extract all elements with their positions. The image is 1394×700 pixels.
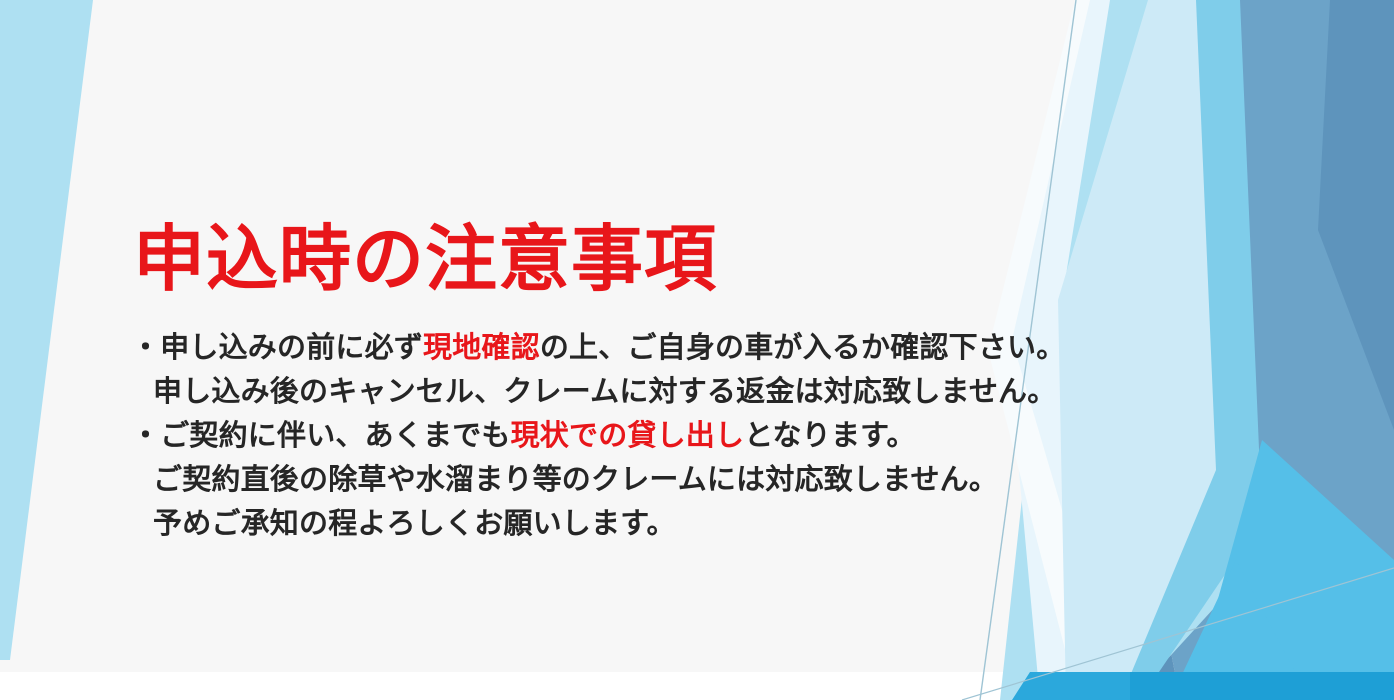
body-text-block: ・申し込みの前に必ず現地確認の上、ご自身の車が入るか確認下さい。申し込み後のキャ… [131, 326, 1131, 546]
body-line: 予めご承知の程よろしくお願いします。 [131, 502, 1131, 546]
body-line: 申し込み後のキャンセル、クレームに対する返金は対応致しません。 [131, 370, 1131, 414]
body-text: 申し込み後のキャンセル、クレームに対する返金は対応致しません。 [153, 376, 1056, 408]
body-line: ・申し込みの前に必ず現地確認の上、ご自身の車が入るか確認下さい。 [131, 326, 1131, 370]
body-text: となります。 [744, 420, 915, 452]
body-line: ご契約直後の除草や水溜まり等のクレームには対応致しません。 [131, 458, 1131, 502]
body-line: ・ご契約に伴い、あくまでも現状での貸し出しとなります。 [131, 414, 1131, 458]
slide-canvas: 申込時の注意事項 ・申し込みの前に必ず現地確認の上、ご自身の車が入るか確認下さい… [0, 0, 1394, 700]
slide-content: 申込時の注意事項 ・申し込みの前に必ず現地確認の上、ご自身の車が入るか確認下さい… [0, 0, 1394, 700]
page-title: 申込時の注意事項 [133, 224, 717, 296]
body-text: の上、ご自身の車が入るか確認下さい。 [540, 332, 1066, 364]
body-text: 予めご承知の程よろしくお願いします。 [153, 508, 676, 540]
body-emphasis-text: 現地確認 [423, 332, 540, 364]
body-emphasis-text: 現状での貸し出し [511, 420, 745, 452]
body-text: ・ご契約に伴い、あくまでも [131, 420, 511, 452]
body-text: ご契約直後の除草や水溜まり等のクレームには対応致しません。 [153, 464, 998, 496]
body-text: ・申し込みの前に必ず [131, 332, 423, 364]
